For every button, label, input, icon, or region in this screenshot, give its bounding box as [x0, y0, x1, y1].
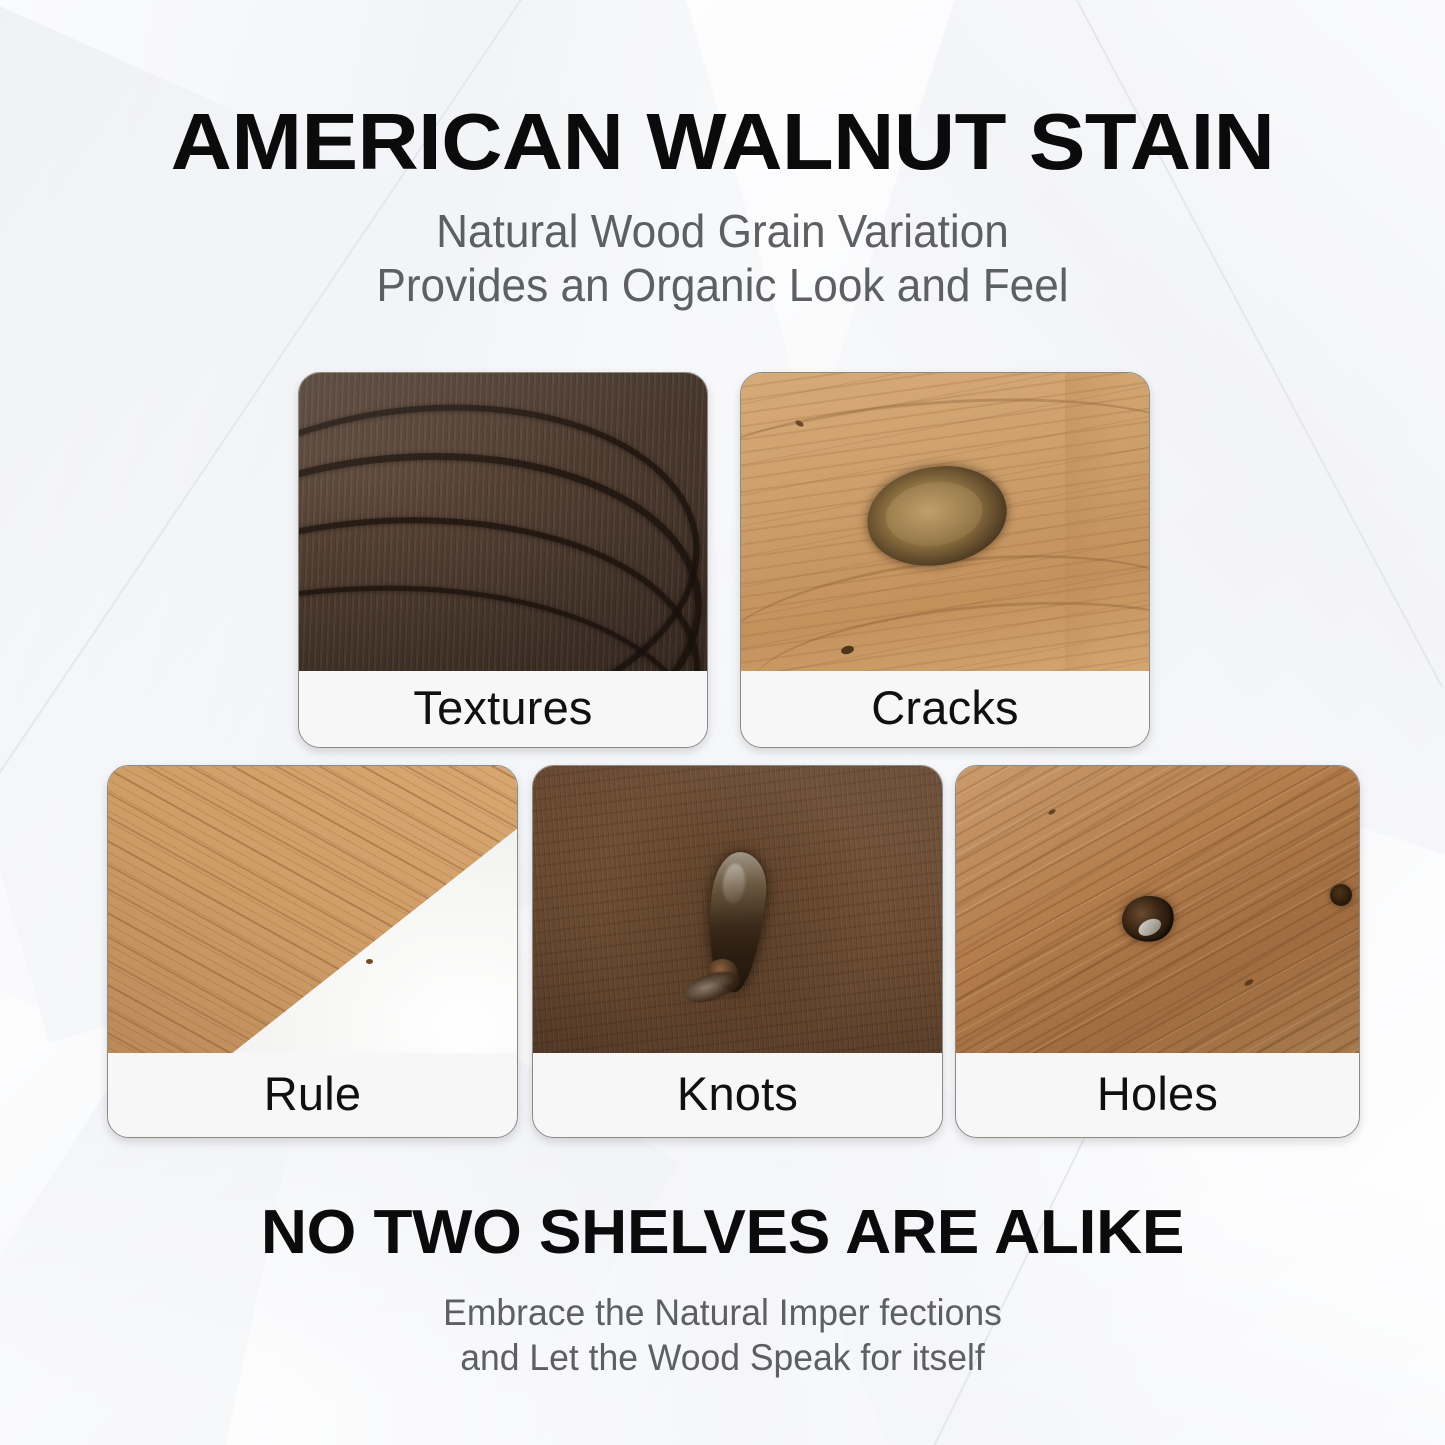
page-title: AMERICAN WALNUT STAIN	[0, 102, 1445, 182]
wood-speck-1	[366, 959, 373, 964]
card-label-textures: Textures	[299, 671, 707, 747]
card-label-holes: Holes	[956, 1053, 1359, 1137]
feature-card-cracks[interactable]: Cracks	[740, 372, 1150, 748]
page-subtitle-line-2: Provides an Organic Look and Feel	[29, 258, 1416, 312]
footer-subtitle-line-1: Embrace the Natural Imper fections	[29, 1290, 1416, 1335]
feature-card-textures[interactable]: Textures	[298, 372, 708, 748]
card-photo-rule	[108, 766, 517, 1053]
card-label-knots: Knots	[533, 1053, 942, 1137]
page-subtitle-line-1: Natural Wood Grain Variation	[29, 204, 1416, 258]
card-photo-cracks	[741, 373, 1149, 671]
header-block: AMERICAN WALNUT STAIN Natural Wood Grain…	[0, 102, 1445, 313]
card-photo-holes	[956, 766, 1359, 1053]
footer-subtitle: Embrace the Natural Imper fections and L…	[29, 1290, 1416, 1380]
footer-title: NO TWO SHELVES ARE ALIKE	[0, 1202, 1445, 1264]
feature-card-rule[interactable]: Rule	[107, 765, 518, 1138]
photo-sheen-overlay	[299, 373, 707, 671]
feature-card-holes[interactable]: Holes	[955, 765, 1360, 1138]
card-photo-knots	[533, 766, 942, 1053]
product-infographic: AMERICAN WALNUT STAIN Natural Wood Grain…	[0, 0, 1445, 1445]
feature-card-knots[interactable]: Knots	[532, 765, 943, 1138]
card-photo-textures	[299, 373, 707, 671]
page-subtitle: Natural Wood Grain Variation Provides an…	[29, 204, 1416, 313]
board-edge-shadow	[1065, 373, 1149, 671]
card-label-rule: Rule	[108, 1053, 517, 1137]
footer-subtitle-line-2: and Let the Wood Speak for itself	[29, 1335, 1416, 1380]
hole-secondary	[1330, 884, 1352, 906]
footer-block: NO TWO SHELVES ARE ALIKE Embrace the Nat…	[0, 1202, 1445, 1380]
card-label-cracks: Cracks	[741, 671, 1149, 747]
